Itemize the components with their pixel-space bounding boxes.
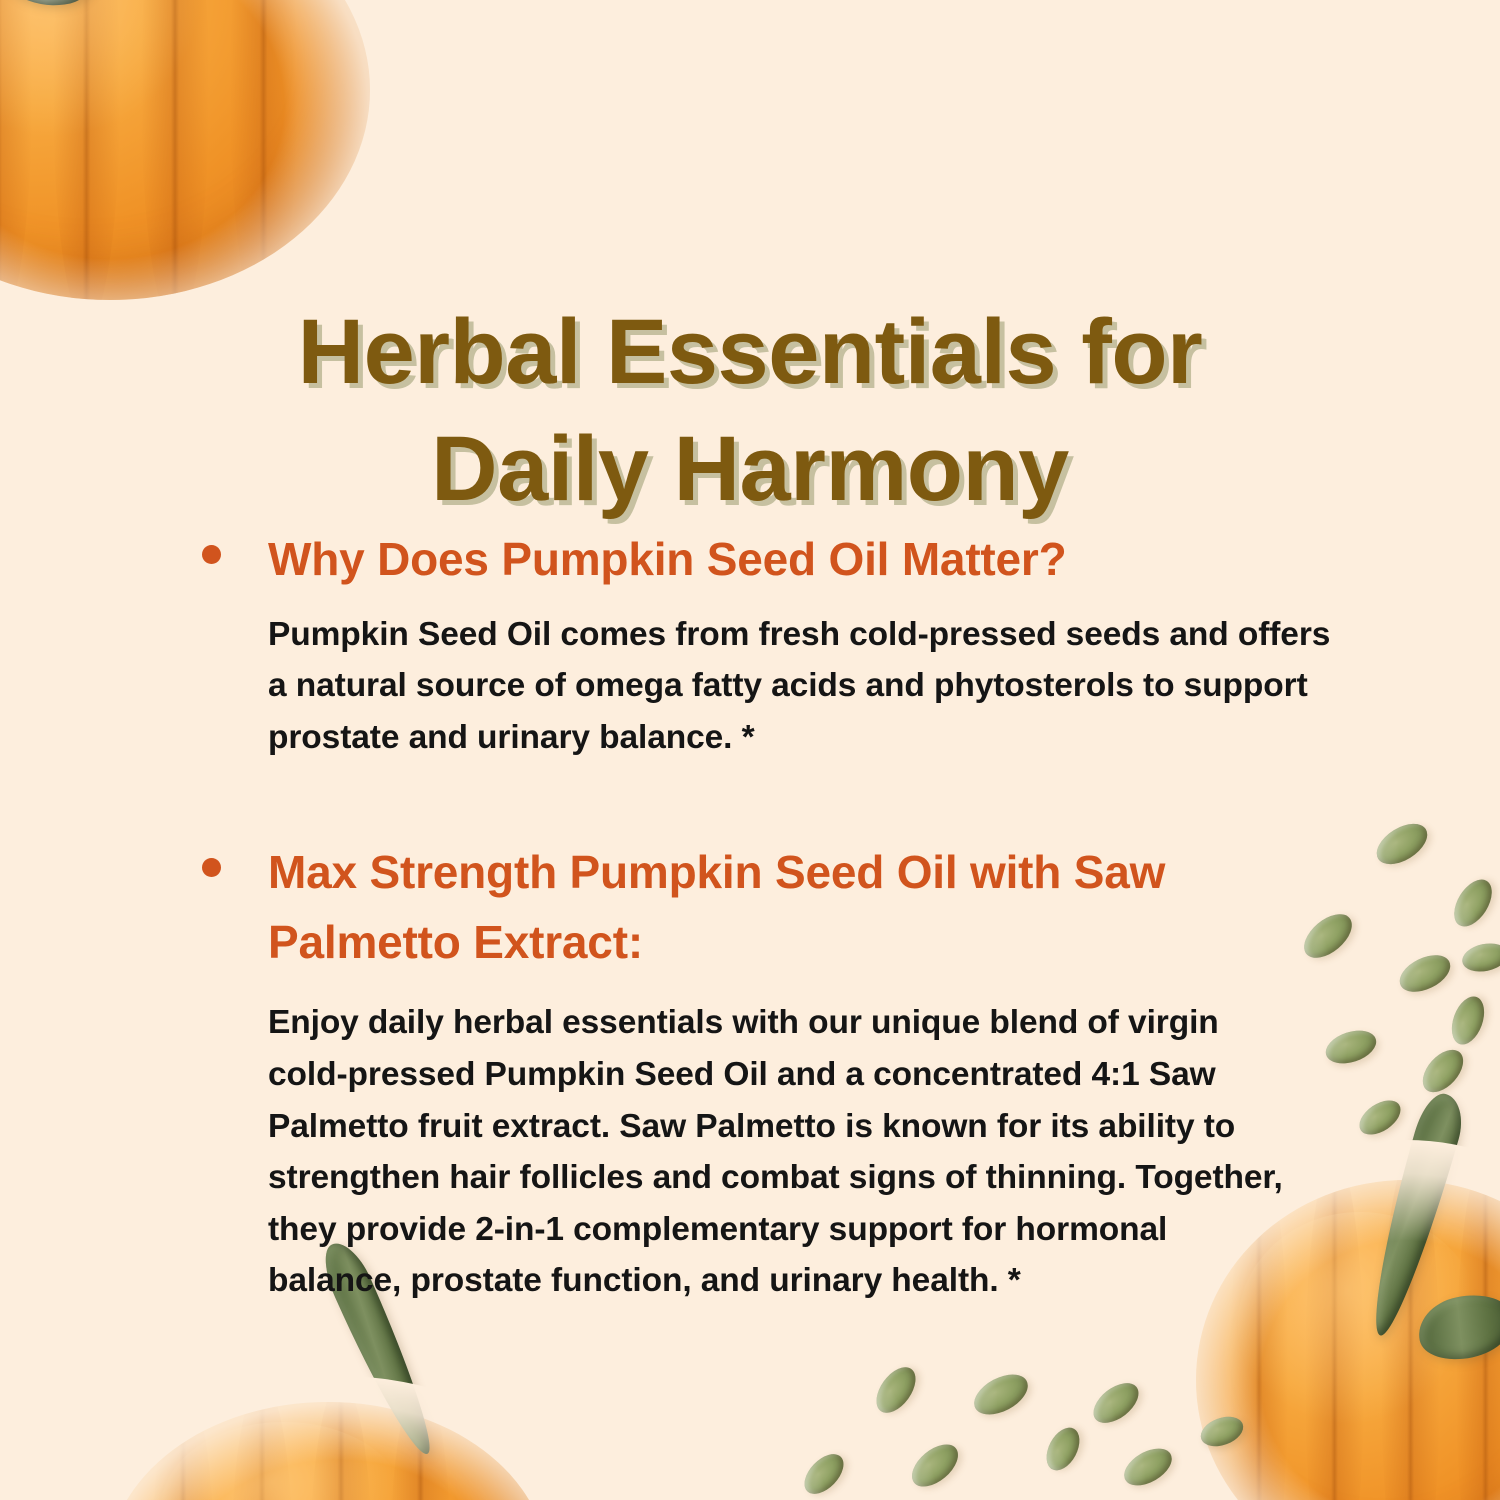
bullet-body-1: Pumpkin Seed Oil comes from fresh cold-p… bbox=[268, 609, 1338, 764]
bullet-body-2: Enjoy daily herbal essentials with our u… bbox=[268, 997, 1303, 1306]
product-infographic: Herbal Essentials for Daily Harmony Why … bbox=[0, 0, 1500, 1500]
bullet-list: Why Does Pumpkin Seed Oil Matter? Pumpki… bbox=[196, 525, 1356, 1307]
page-title: Herbal Essentials for Daily Harmony bbox=[190, 294, 1310, 530]
bullet-item-1: Why Does Pumpkin Seed Oil Matter? Pumpki… bbox=[196, 525, 1356, 764]
bullet-item-2: Max Strength Pumpkin Seed Oil with Saw P… bbox=[196, 838, 1356, 1307]
bullet-dot-icon bbox=[202, 545, 221, 564]
content-area: Herbal Essentials for Daily Harmony Why … bbox=[0, 0, 1500, 1500]
bullet-dot-icon bbox=[202, 858, 221, 877]
page-title-line-1: Herbal Essentials for bbox=[298, 301, 1203, 403]
page-title-line-2: Daily Harmony bbox=[431, 418, 1069, 520]
bullet-heading-1: Why Does Pumpkin Seed Oil Matter? bbox=[268, 525, 1356, 595]
bullet-heading-2: Max Strength Pumpkin Seed Oil with Saw P… bbox=[268, 838, 1356, 978]
